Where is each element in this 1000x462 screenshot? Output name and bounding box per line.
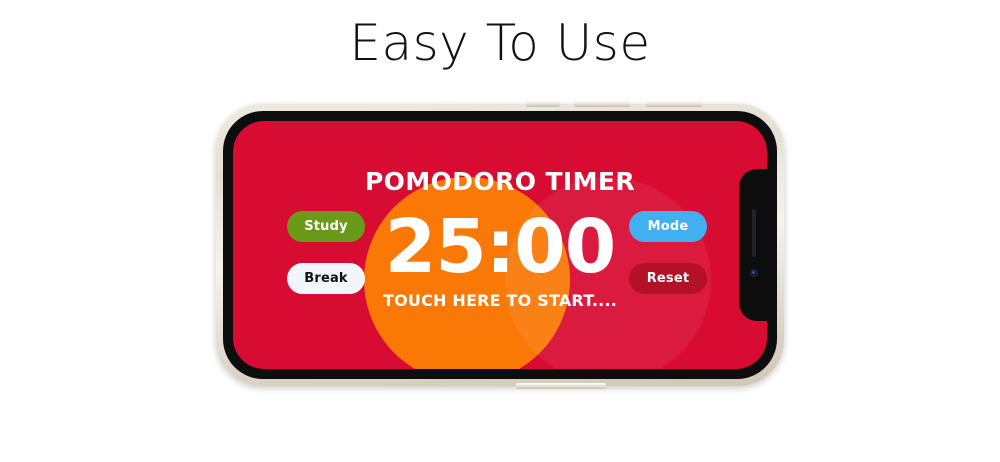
app-title: POMODORO TIMER	[233, 167, 767, 196]
volume-up-button[interactable]	[574, 101, 630, 107]
phone-notch	[739, 169, 767, 321]
volume-silent-switch[interactable]	[526, 101, 560, 107]
front-camera-icon	[750, 269, 758, 277]
phone-bezel: POMODORO TIMER 25:00 TOUCH HERE TO START…	[223, 111, 777, 379]
break-button[interactable]: Break	[287, 263, 365, 294]
mode-button[interactable]: Mode	[629, 211, 707, 242]
reset-button[interactable]: Reset	[629, 263, 707, 294]
phone-screen[interactable]: POMODORO TIMER 25:00 TOUCH HERE TO START…	[233, 121, 767, 369]
earpiece-speaker-icon	[752, 209, 756, 257]
study-button[interactable]: Study	[287, 211, 365, 242]
phone-mockup: POMODORO TIMER 25:00 TOUCH HERE TO START…	[216, 104, 784, 386]
power-button[interactable]	[516, 383, 606, 389]
pomodoro-app: POMODORO TIMER 25:00 TOUCH HERE TO START…	[233, 121, 767, 369]
page-title: Easy To Use	[0, 12, 1000, 74]
volume-down-button[interactable]	[646, 101, 702, 107]
